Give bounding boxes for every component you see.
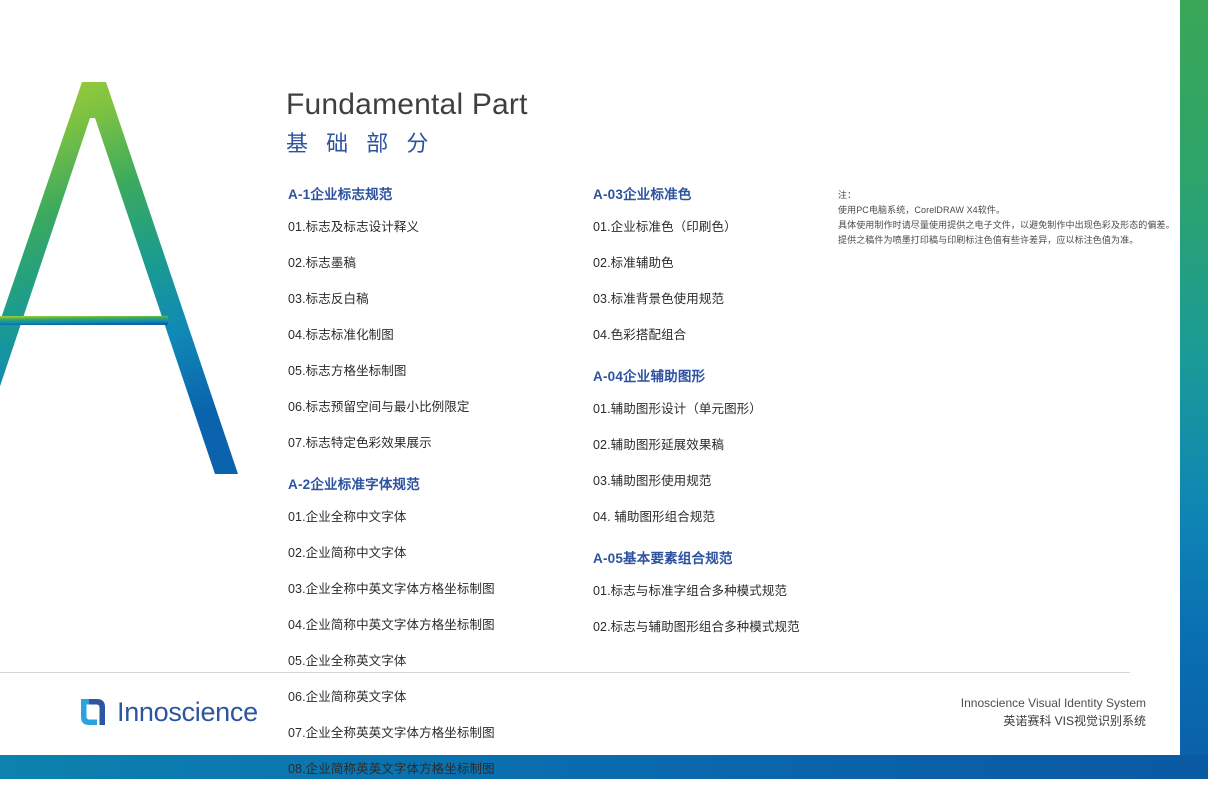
page-title-en: Fundamental Part (286, 88, 528, 122)
toc-column-1: A-1企业标志规范 01.标志及标志设计释义 02.标志墨稿 03.标志反白稿 … (288, 183, 568, 794)
toc-item[interactable]: 06.企业简称英文字体 (288, 686, 568, 705)
section-heading[interactable]: A-1企业标志规范 (288, 183, 568, 203)
toc-item[interactable]: 03.辅助图形使用规范 (593, 470, 873, 489)
toc-item[interactable]: 01.企业全称中文字体 (288, 506, 568, 525)
section-heading[interactable]: A-2企业标准字体规范 (288, 473, 568, 493)
note-line: 具体使用制作时请尽量使用提供之电子文件，以避免制作中出现色彩及形态的偏差。 (838, 218, 1168, 233)
toc-item[interactable]: 03.标准背景色使用规范 (593, 288, 873, 307)
right-gradient-band (1180, 0, 1208, 779)
toc-item[interactable]: 04. 辅助图形组合规范 (593, 506, 873, 525)
toc-item[interactable]: 02.辅助图形延展效果稿 (593, 434, 873, 453)
section-letter-a (0, 68, 282, 488)
page-root: Fundamental Part 基 础 部 分 A-1企业标志规范 01.标志… (0, 0, 1208, 779)
toc-item[interactable]: 04.企业简称中英文字体方格坐标制图 (288, 614, 568, 633)
section-heading[interactable]: A-05基本要素组合规范 (593, 547, 873, 567)
section-heading[interactable]: A-04企业辅助图形 (593, 365, 873, 385)
bottom-gradient-band (0, 755, 1208, 779)
toc-item[interactable]: 01.标志与标准字组合多种模式规范 (593, 580, 873, 599)
toc-item[interactable]: 07.企业全称英英文字体方格坐标制图 (288, 722, 568, 741)
note-line: 使用PC电脑系统，CorelDRAW X4软件。 (838, 203, 1168, 218)
section-heading[interactable]: A-03企业标准色 (593, 183, 873, 203)
footer-identity: Innoscience Visual Identity System 英诺赛科 … (961, 694, 1146, 730)
toc-item[interactable]: 06.标志预留空间与最小比例限定 (288, 396, 568, 415)
footer-divider (0, 672, 1130, 673)
toc-item[interactable]: 02.企业简称中文字体 (288, 542, 568, 561)
toc-item[interactable]: 04.标志标准化制图 (288, 324, 568, 343)
toc-item[interactable]: 01.标志及标志设计释义 (288, 216, 568, 235)
footer-identity-cn: 英诺赛科 VIS视觉识别系统 (961, 712, 1146, 730)
toc-item[interactable]: 08.企业简称英英文字体方格坐标制图 (288, 758, 568, 777)
toc-item[interactable]: 05.标志方格坐标制图 (288, 360, 568, 379)
toc-item[interactable]: 02.标准辅助色 (593, 252, 873, 271)
footer-identity-en: Innoscience Visual Identity System (961, 694, 1146, 712)
footer-logo: Innoscience (78, 696, 258, 728)
toc-item[interactable]: 01.辅助图形设计（单元图形） (593, 398, 873, 417)
note-line: 提供之稿件为喷墨打印稿与印刷标注色值有些许差异，应以标注色值为准。 (838, 233, 1168, 248)
toc-item[interactable]: 01.企业标准色（印刷色） (593, 216, 873, 235)
toc-item[interactable]: 03.企业全称中英文字体方格坐标制图 (288, 578, 568, 597)
toc-item[interactable]: 05.企业全称英文字体 (288, 650, 568, 669)
innoscience-logo-icon (78, 696, 108, 728)
production-note: 注： 使用PC电脑系统，CorelDRAW X4软件。 具体使用制作时请尽量使用… (838, 188, 1168, 248)
brand-name: Innoscience (117, 699, 258, 726)
toc-item[interactable]: 07.标志特定色彩效果展示 (288, 432, 568, 451)
toc-item[interactable]: 03.标志反白稿 (288, 288, 568, 307)
toc-item[interactable]: 02.标志与辅助图形组合多种模式规范 (593, 616, 873, 635)
toc-item[interactable]: 04.色彩搭配组合 (593, 324, 873, 343)
toc-item[interactable]: 02.标志墨稿 (288, 252, 568, 271)
note-line: 注： (838, 188, 1168, 203)
page-title-cn: 基 础 部 分 (286, 126, 434, 158)
toc-column-2: A-03企业标准色 01.企业标准色（印刷色） 02.标准辅助色 03.标准背景… (593, 183, 873, 652)
